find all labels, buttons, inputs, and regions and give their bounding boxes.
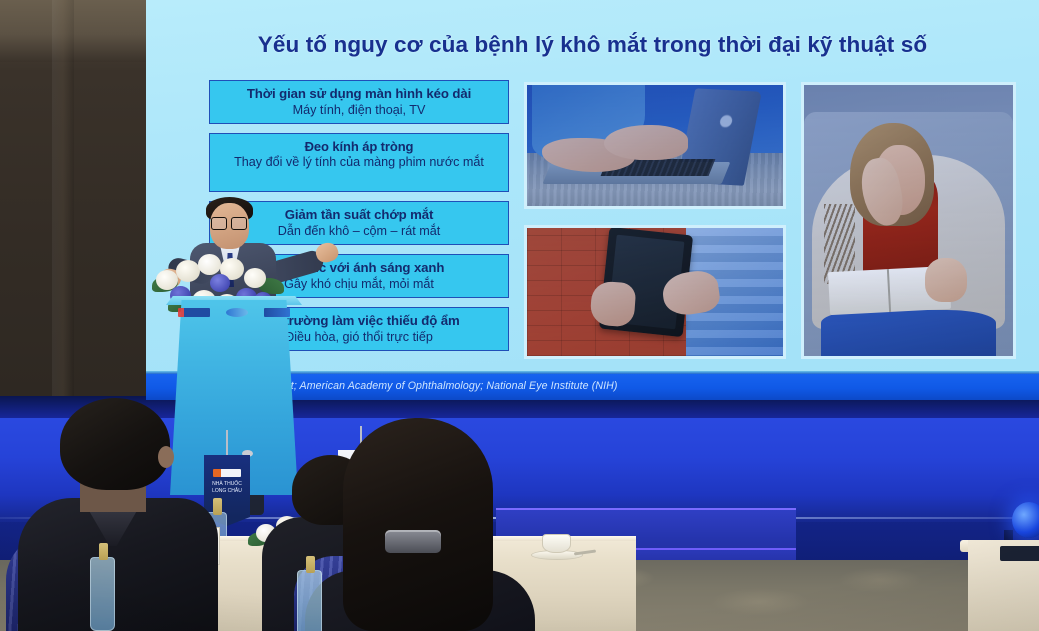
- photo-tablet-brick: [524, 225, 786, 359]
- slide-title: Yếu tố nguy cơ của bệnh lý khô mắt trong…: [146, 32, 1039, 58]
- hair-clip-icon: [385, 530, 441, 553]
- coffee-cup: [542, 534, 571, 553]
- conference-photo-scene: Yếu tố nguy cơ của bệnh lý khô mắt trong…: [0, 0, 1039, 631]
- sponsor-logo-icon: [226, 308, 248, 317]
- room-wall-left: [0, 0, 146, 400]
- risk-factor-heading: Thời gian sử dụng màn hình kéo dài: [216, 86, 502, 102]
- risk-factor-sub: Máy tính, điện thoại, TV: [216, 103, 502, 118]
- risk-factor-item: Thời gian sử dụng màn hình kéo dài Máy t…: [209, 80, 509, 124]
- sponsor-logo-icon: [178, 308, 210, 317]
- water-bottle: [297, 570, 322, 631]
- photo-laptop-typing: [524, 82, 786, 209]
- water-bottle: [90, 557, 115, 631]
- photo-woman-rubbing-eyes: [801, 82, 1016, 359]
- risk-factor-sub: Thay đổi về lý tính của màng phim nước m…: [216, 155, 502, 170]
- audience-man-left: [18, 398, 218, 631]
- laptop-on-table: [1000, 546, 1039, 561]
- podium-sponsor-logos: [178, 306, 290, 319]
- risk-factor-item: Đeo kính áp tròng Thay đổi về lý tính củ…: [209, 133, 509, 192]
- eyeglasses-icon: [211, 217, 247, 228]
- stage-light-icon: [1012, 502, 1039, 538]
- risk-factor-heading: Đeo kính áp tròng: [216, 139, 502, 154]
- sponsor-logo-icon: [264, 308, 290, 317]
- audience-woman-right: [305, 418, 535, 631]
- wall-trim: [0, 0, 146, 62]
